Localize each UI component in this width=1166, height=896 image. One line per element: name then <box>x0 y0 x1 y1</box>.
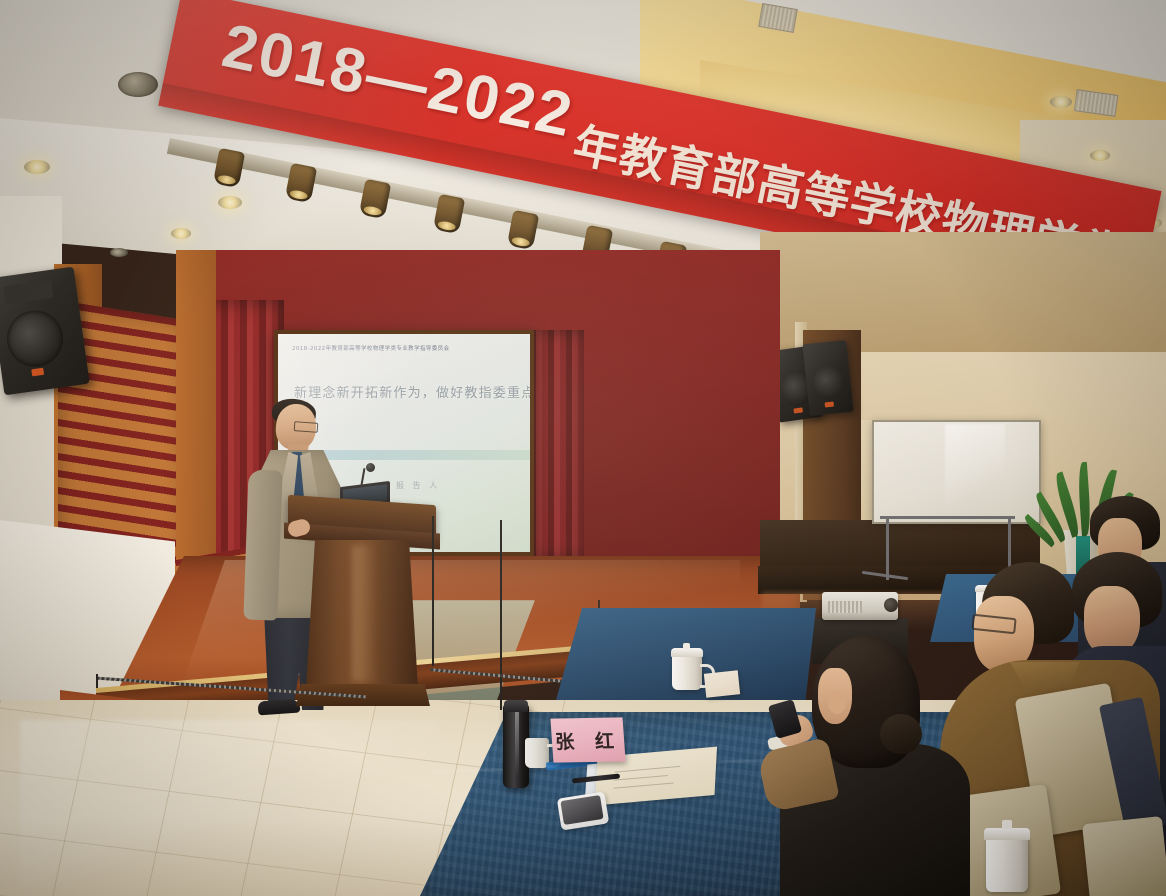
name-placard-primary: 张 红 <box>550 717 625 762</box>
tea-mug-lid-middle <box>671 648 703 657</box>
ceiling-light-3 <box>171 228 191 239</box>
slide-title-text: 新理念新开拓新作为，做好教指委重点工作 <box>294 382 530 401</box>
name-placard-secondary <box>704 670 740 697</box>
thermos-cap <box>504 700 528 712</box>
ceiling-light-recessed-1 <box>118 72 158 97</box>
tea-mug-middle <box>672 654 702 690</box>
whiteboard-crossbar <box>880 516 1015 519</box>
speaker-indicator <box>793 407 803 413</box>
speaker-indicator <box>825 402 834 408</box>
cable-to-left <box>96 674 98 688</box>
ceiling-light-recessed-2 <box>110 248 128 257</box>
projector-lens <box>884 598 898 612</box>
floor-reflection <box>20 720 440 890</box>
podium-highlight <box>352 546 378 681</box>
ceiling-light-1 <box>24 160 50 174</box>
chair-back-3 <box>1082 816 1166 896</box>
attendee-woman-bun <box>880 714 922 754</box>
wall-speaker-right-2 <box>802 340 853 416</box>
ceiling-light-2 <box>218 196 242 209</box>
whiteboard-leg-left <box>886 518 889 580</box>
ceiling-light-5 <box>1090 150 1110 161</box>
presenter-shoe <box>258 699 301 716</box>
conference-hall-photo: 2018—2022 年教育部高等学校物理学类专业教学指导委员会西南地区工作委员会… <box>0 0 1166 896</box>
attendee-woman-ear <box>828 690 846 714</box>
whiteboard-glare <box>945 424 1005 518</box>
name-placard-primary-text: 张 红 <box>554 726 622 754</box>
power-cable-vertical <box>500 520 502 710</box>
tea-mug-knob-middle <box>683 643 690 649</box>
document-line <box>614 775 668 781</box>
thermos-highlight <box>515 712 519 776</box>
tea-mug-lid-foreground <box>984 828 1030 840</box>
presenter-arm <box>243 469 282 620</box>
ceiling-light-4 <box>1050 96 1072 108</box>
microphone-head <box>366 463 375 472</box>
jbl-logo <box>31 368 44 377</box>
tea-mug-foreground <box>986 836 1028 892</box>
document-line <box>614 782 674 788</box>
document-line <box>615 766 681 773</box>
presenter-glasses <box>294 421 319 433</box>
mic-cable-vertical <box>432 516 434 666</box>
tea-mug-knob-foreground <box>1002 820 1012 829</box>
slide-subtitle-text: 报 告 人 <box>396 480 440 491</box>
slide-header-text: 2018-2022年教育部高等学校物理学类专业教学指导委员会 <box>292 344 449 352</box>
